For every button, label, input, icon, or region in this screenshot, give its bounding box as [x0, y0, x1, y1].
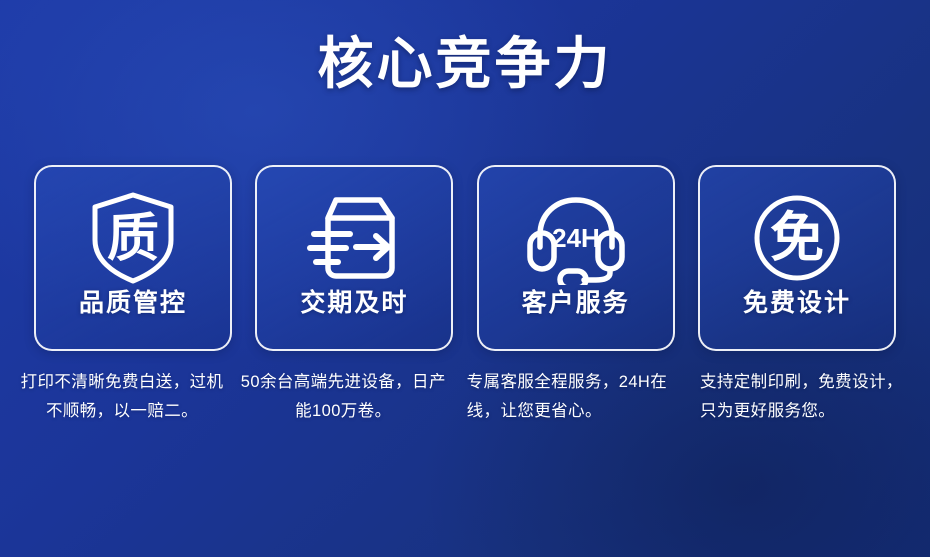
feature-card-label: 交期及时: [300, 291, 408, 316]
feature-card-delivery[interactable]: 交期及时: [255, 165, 453, 351]
feature-description: 50余台高端先进设备，日产能100万卷。: [235, 368, 451, 426]
feature-card-service[interactable]: 24H 客户服务: [477, 165, 675, 351]
shield-glyph: 质: [107, 210, 159, 268]
feature-description: 打印不清晰免费白送，过机不顺畅，以一赔二。: [14, 368, 230, 426]
feature-card-label: 免费设计: [743, 291, 851, 316]
feature-card-label: 品质管控: [79, 291, 187, 316]
feature-card-free-design[interactable]: 免 免费设计: [698, 165, 896, 351]
free-glyph: 免: [770, 208, 824, 268]
feature-card-row: 质 品质管控 交期及时: [34, 165, 896, 351]
feature-description: 支持定制印刷，免费设计，只为更好服务您。: [688, 368, 916, 426]
free-circle-icon: 免: [751, 185, 843, 291]
headset-24h-label: 24H: [552, 223, 600, 253]
feature-card-quality[interactable]: 质 品质管控: [34, 165, 232, 351]
page-title: 核心竞争力: [0, 32, 930, 96]
feature-description: 专属客服全程服务，24H在线，让您更省心。: [457, 368, 683, 426]
delivery-box-arrow-icon: [306, 185, 402, 291]
feature-description-row: 打印不清晰免费白送，过机不顺畅，以一赔二。 50余台高端先进设备，日产能100万…: [14, 368, 916, 426]
shield-quality-icon: 质: [87, 185, 179, 291]
feature-card-label: 客户服务: [522, 291, 630, 316]
headset-support-icon: 24H: [524, 185, 628, 291]
poster-banner: 核心竞争力 质 品质管控: [0, 0, 930, 557]
